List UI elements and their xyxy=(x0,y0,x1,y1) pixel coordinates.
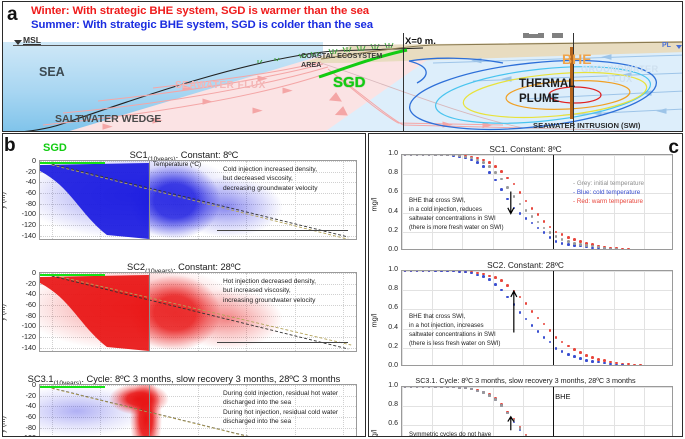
panel-c-note-line: BHE that cross SWI, xyxy=(409,312,500,321)
panel-c-y-tick: 0.8 xyxy=(378,401,398,408)
panel-c-y-tick: 0.6 xyxy=(378,420,398,427)
mean-sea-level-line xyxy=(13,45,393,46)
panel-b-y-tick: -60 xyxy=(10,412,36,421)
panel-b-note-line: but increased viscosity, xyxy=(223,286,316,295)
panel-b-y-tick: -60 xyxy=(10,188,36,197)
panel-c-note-line: saltwater concentrations in SWI xyxy=(409,214,504,223)
figure-root: a Winter: With strategic BHE system, SGD… xyxy=(0,0,685,439)
panel-b-note-line: discharged into the sea xyxy=(223,398,338,407)
panel-c-y-axis-label-2: mg/l xyxy=(369,314,378,328)
panel-b-y-tick: -120 xyxy=(10,332,36,341)
panel-b-y-tick: -140 xyxy=(10,343,36,352)
msl-label: MSL xyxy=(23,35,41,45)
panel-b-y-tick: -120 xyxy=(10,220,36,229)
sea-label: SEA xyxy=(39,65,65,79)
panel-b-note-line: During cold injection, residual hot wate… xyxy=(223,389,338,398)
panel-c-y-tick: 0.8 xyxy=(378,169,398,176)
panel-c-series-key-1: - Grey: initial temperature xyxy=(573,180,644,187)
panel-c-y-tick: 0.2 xyxy=(378,343,398,350)
panel-b-y-tick: 0 xyxy=(10,380,36,389)
panel-c-y-tick: 1.0 xyxy=(378,150,398,157)
house-icon xyxy=(515,33,571,39)
panel-c-y-tick: 0.8 xyxy=(378,285,398,292)
panel-c-y-tick: 0.6 xyxy=(378,304,398,311)
panel-c-concentration-profiles: SC1. Constant: 8ºC1.00.80.60.40.20.0mg/l… xyxy=(368,133,683,437)
panel-b-note-line: discharged into the sea xyxy=(223,417,338,426)
panel-a-letter: a xyxy=(7,4,18,26)
panel-b-note-line: but decreased viscosity, xyxy=(223,174,318,183)
panel-c-series-key-3: - Red: warm temperature xyxy=(573,198,643,205)
seawater-flux-label: SEAWATER FLUX xyxy=(175,80,266,91)
panel-b-y-tick: -80 xyxy=(10,423,36,432)
panel-b-y-tick: -40 xyxy=(10,401,36,410)
panel-c-note-line: in a hot injection, increases xyxy=(409,321,500,330)
panel-b-y-tick: -60 xyxy=(10,300,36,309)
panel-c-annotation-1: BHE that cross SWI,in a cold injection, … xyxy=(409,196,504,232)
panel-b-annotation-2: Hot injection decreased density,but incr… xyxy=(223,277,316,305)
sgd-discharge-bar-3 xyxy=(40,386,105,388)
panel-c-annotation-3: Symmetric cycles do not haverelevant eff… xyxy=(409,430,491,437)
panel-b-note-line: During hot injection, residual cold wate… xyxy=(223,408,338,417)
panel-c-series-key-2: - Blue: cold temperature xyxy=(573,189,640,196)
panel-c-annotation-2: BHE that cross SWI,in a hot injection, i… xyxy=(409,312,500,348)
panel-c-y-tick: 1.0 xyxy=(378,266,398,273)
panel-b-y-axis-label-1: y (m) xyxy=(2,192,7,209)
msl-marker-icon xyxy=(14,40,22,45)
panel-a-summer-title: Summer: With strategic BHE system, SGD i… xyxy=(31,19,373,31)
saltwater-wedge-label: SALTWATER WEDGE xyxy=(55,113,161,125)
panel-c-note-line: Symmetric cycles do not have xyxy=(409,430,491,437)
panel-b-y-tick: -80 xyxy=(10,311,36,320)
panel-b-letter: b xyxy=(4,135,16,157)
bhe-position-line-2 xyxy=(149,273,150,351)
piezometric-level-label: PL xyxy=(662,42,671,49)
panel-b-y-tick: -20 xyxy=(10,279,36,288)
colorbar-axis-label: Temperature (ºC) xyxy=(3,161,351,168)
panel-b-y-tick: -100 xyxy=(10,321,36,330)
panel-c-y-tick: 0.4 xyxy=(378,324,398,331)
seawater-intrusion-label: SEAWATER INTRUSION (SWI) xyxy=(533,121,640,130)
panel-c-y-axis-label-1: mg/l xyxy=(369,198,378,212)
panel-b-note-line: Hot injection decreased density, xyxy=(223,277,316,286)
panel-b-y-tick: -40 xyxy=(10,177,36,186)
groundwater-flux-label-line1: GROUNDWATER xyxy=(581,64,659,74)
bhe-label: BHE xyxy=(562,51,592,67)
panel-b-y-tick: -20 xyxy=(10,167,36,176)
panel-b-y-tick: -20 xyxy=(10,391,36,400)
panel-c-y-tick: 1.0 xyxy=(378,382,398,389)
panel-a-conceptual-model: a Winter: With strategic BHE system, SGD… xyxy=(2,1,683,132)
panel-b-annotation-3: During cold injection, residual hot wate… xyxy=(223,389,338,427)
panel-c-note-line: (there is more fresh water on SWI) xyxy=(409,223,504,232)
panel-b-y-tick: -100 xyxy=(10,209,36,218)
panel-b-note-line: decreasing groundwater velocity xyxy=(223,184,318,193)
panel-b-note-line: increasing groundwater velocity xyxy=(223,296,316,305)
bhe-position-line-1 xyxy=(149,161,150,239)
panel-c-y-tick: 0.4 xyxy=(378,208,398,215)
panel-c-y-tick: 0.2 xyxy=(378,227,398,234)
panel-c-subplot-title-2: SC2. Constant: 28ºC xyxy=(369,260,682,270)
panel-b-y-tick: -100 xyxy=(10,433,36,437)
cross-section-scene: MSL SEA SALTWATER WEDGE SEAWATER FLUX GR… xyxy=(3,33,683,132)
sgd-discharge-bar-2 xyxy=(40,274,105,276)
panel-c-note-line: saltwater concentrations in SWI xyxy=(409,330,500,339)
panel-c-note-line: (there is less fresh water on SWI) xyxy=(409,339,500,348)
panel-c-bhe-label: BHE xyxy=(555,392,570,401)
panel-c-note-line: in a cold injection, reduces xyxy=(409,205,504,214)
panel-b-annotation-1: Cold injection increased density,but dec… xyxy=(223,165,318,193)
panel-b-temperature-sections: SC1(10years). Constant: 8ºC0-20-40-60-80… xyxy=(2,133,366,437)
sgd-label: SGD xyxy=(333,74,366,91)
panel-c-y-tick: 0.0 xyxy=(378,362,398,369)
figure-c-depth-arrow-1 xyxy=(217,230,348,231)
panel-b-y-axis-label-3: y (m) xyxy=(2,416,7,433)
panel-c-letter: c xyxy=(668,137,679,159)
panel-c-y-tick: 0.0 xyxy=(378,246,398,253)
panel-b-y-tick: -140 xyxy=(10,231,36,240)
bhe-position-line-3 xyxy=(149,385,150,437)
thermal-plume-label-line2: PLUME xyxy=(519,93,559,105)
panel-b-y-tick: -80 xyxy=(10,199,36,208)
piezometric-level-marker-icon xyxy=(676,45,682,49)
coastal-ecosystem-label-line2: AREA xyxy=(301,60,321,69)
panel-b-sgd-label: SGD xyxy=(43,142,67,154)
panel-b-y-tick: -40 xyxy=(10,289,36,298)
x0-reference-line xyxy=(403,33,404,132)
thermal-plume-label-line1: THERMAL xyxy=(519,78,575,90)
panel-c-y-axis-label-3: mg/l xyxy=(369,430,378,437)
coastal-ecosystem-label-line1: COASTAL ECOSYSTEM xyxy=(301,51,382,60)
panel-b-y-axis-label-2: y (m) xyxy=(2,304,7,321)
panel-c-y-tick: 0.6 xyxy=(378,188,398,195)
figure-c-depth-arrow-2 xyxy=(217,342,348,343)
x0-label: X=0 m. xyxy=(405,36,436,47)
panel-c-subplot-title-3: SC3.1. Cycle: 8ºC 3 months, slow recover… xyxy=(369,376,682,385)
panel-a-winter-title: Winter: With strategic BHE system, SGD i… xyxy=(31,5,369,17)
panel-c-subplot-title-1: SC1. Constant: 8ºC xyxy=(369,144,682,154)
panel-b-y-tick: 0 xyxy=(10,268,36,277)
groundwater-flux-label-line2: FLUX xyxy=(607,74,632,84)
panel-c-note-line: BHE that cross SWI, xyxy=(409,196,504,205)
